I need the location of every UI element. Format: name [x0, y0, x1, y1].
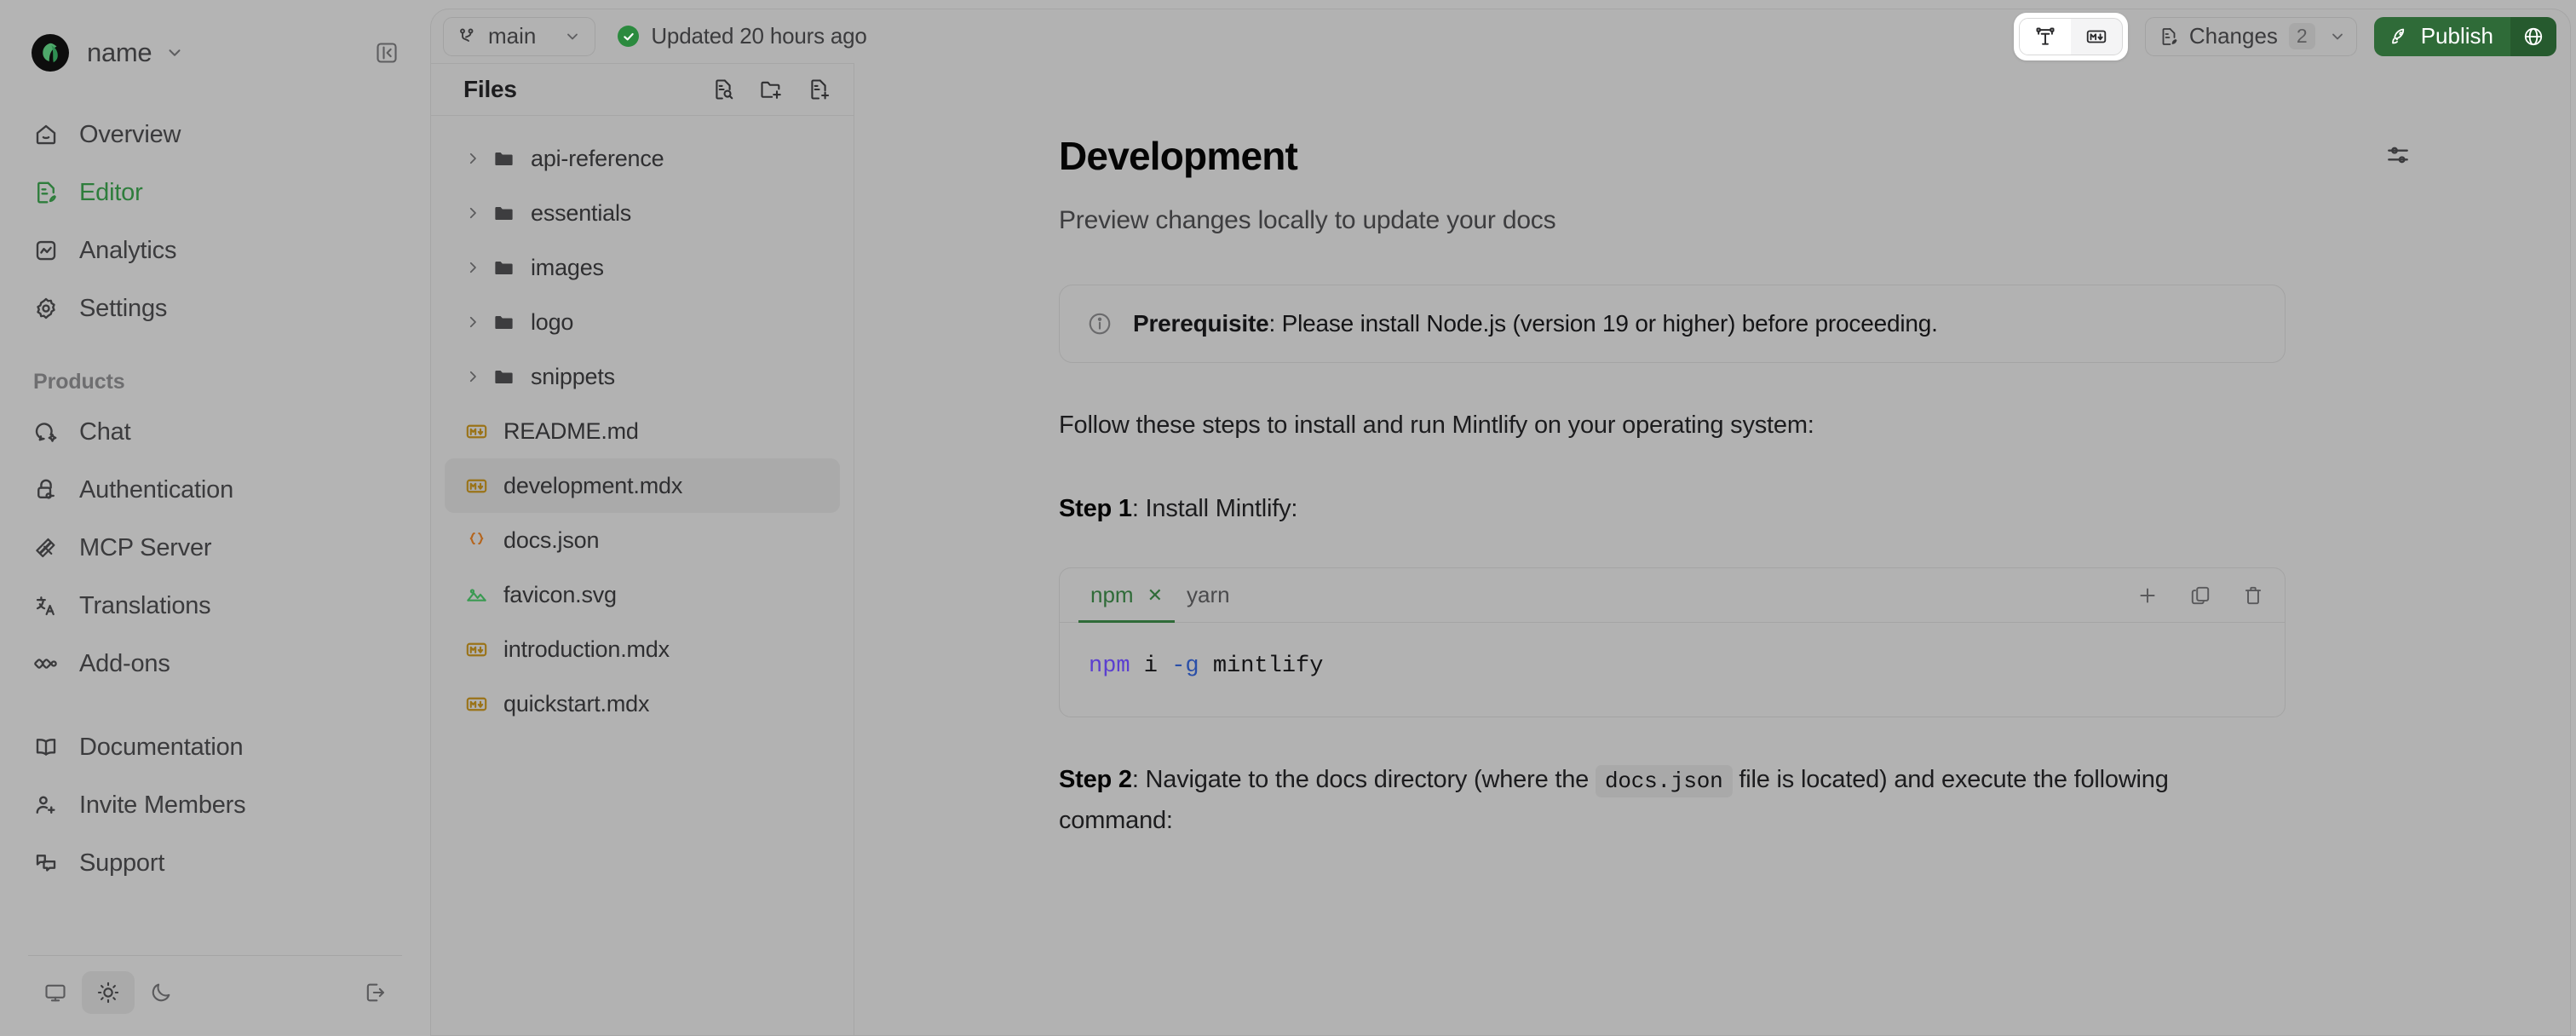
file-name: essentials — [531, 200, 631, 227]
chevron-right-icon[interactable] — [463, 314, 482, 330]
sun-icon[interactable] — [82, 971, 135, 1014]
chevron-down-icon — [564, 28, 581, 45]
file-plus-icon[interactable] — [806, 77, 831, 102]
globe-icon[interactable] — [2510, 17, 2556, 56]
sidebar-item-settings[interactable]: Settings — [26, 279, 405, 337]
file-tree-folder[interactable]: images — [445, 240, 840, 295]
file-tree-folder[interactable]: snippets — [445, 349, 840, 404]
visual-editor-icon[interactable] — [2020, 19, 2071, 55]
code-token-flag: -g — [1171, 653, 1199, 679]
file-name: api-reference — [531, 146, 664, 172]
sidebar-item-label: Editor — [79, 179, 143, 207]
step1-bold: Step 1 — [1059, 495, 1132, 522]
org-switcher[interactable]: name — [26, 0, 405, 106]
divider — [28, 955, 402, 956]
sidebar-footer — [26, 943, 405, 1036]
file-name: development.mdx — [503, 473, 682, 499]
file-tree-folder[interactable]: logo — [445, 295, 840, 349]
prerequisite-callout: Prerequisite: Please install Node.js (ve… — [1059, 285, 2286, 363]
sidebar-item-label: Support — [79, 849, 164, 878]
step1-rest: : Install Mintlify: — [1132, 495, 1297, 522]
file-name: favicon.svg — [503, 582, 617, 608]
body-split: Files — [431, 63, 2570, 1036]
logout-icon[interactable] — [348, 971, 401, 1014]
sidebar-item-label: Documentation — [79, 734, 243, 762]
chevron-down-icon[interactable] — [165, 43, 184, 62]
file-tree-folder[interactable]: essentials — [445, 186, 840, 240]
sidebar-item-authentication[interactable]: Authentication — [26, 461, 405, 519]
sidebar-item-documentation[interactable]: Documentation — [26, 718, 405, 776]
step1-paragraph[interactable]: Step 1: Install Mintlify: — [1059, 489, 2286, 530]
sidebar-section-products: Products — [26, 370, 405, 394]
chevron-right-icon[interactable] — [463, 151, 482, 166]
changes-button[interactable]: Changes 2 — [2145, 17, 2357, 56]
gear-icon — [32, 294, 60, 323]
file-diff-icon — [2159, 26, 2179, 47]
document-editor: Development Preview changes locally to u… — [854, 63, 2570, 1036]
moon-icon[interactable] — [135, 971, 187, 1014]
markdown-file-icon — [463, 693, 489, 716]
file-tree: api-reference essentials — [431, 116, 854, 731]
sidebar-item-overview[interactable]: Overview — [26, 106, 405, 164]
chat-sparkle-icon — [32, 417, 60, 446]
chevron-right-icon[interactable] — [463, 369, 482, 384]
add-ons-diamond-icon — [32, 649, 60, 678]
branch-name: main — [488, 23, 536, 49]
sidebar-item-label: MCP Server — [79, 534, 211, 562]
sidebar-item-label: Analytics — [79, 237, 176, 265]
file-search-icon[interactable] — [710, 77, 736, 102]
markdown-icon[interactable] — [2071, 19, 2122, 55]
copy-icon[interactable] — [2188, 583, 2213, 608]
sync-status: Updated 20 hours ago — [618, 23, 866, 49]
folder-plus-icon[interactable] — [758, 77, 784, 102]
code-block-tabs: npm ✕ yarn — [1060, 568, 2285, 623]
file-tree-file[interactable]: README.md — [445, 404, 840, 458]
file-tree-file[interactable]: favicon.svg — [445, 567, 840, 622]
sidebar: name Overview Editor Analytics — [0, 0, 430, 1036]
file-name: images — [531, 255, 604, 281]
monitor-icon[interactable] — [29, 971, 82, 1014]
file-edit-icon — [32, 178, 60, 207]
sidebar-item-label: Authentication — [79, 476, 233, 504]
sidebar-item-chat[interactable]: Chat — [26, 403, 405, 461]
mcp-server-icon — [32, 533, 60, 562]
publish-button[interactable]: Publish — [2374, 17, 2510, 56]
code-tab-label: yarn — [1187, 582, 1230, 608]
sidebar-item-invite-members[interactable]: Invite Members — [26, 776, 405, 834]
step2-bold: Step 2 — [1059, 766, 1132, 793]
trash-icon[interactable] — [2240, 583, 2266, 608]
step2-paragraph[interactable]: Step 2: Navigate to the docs directory (… — [1059, 760, 2286, 842]
intro-paragraph[interactable]: Follow these steps to install and run Mi… — [1059, 406, 2286, 446]
branch-selector[interactable]: main — [443, 17, 595, 56]
sidebar-main-nav: Overview Editor Analytics Settings — [26, 106, 405, 337]
sidebar-item-label: Translations — [79, 592, 210, 620]
sidebar-item-label: Add-ons — [79, 650, 170, 678]
sidebar-item-label: Settings — [79, 295, 167, 323]
file-name: snippets — [531, 364, 615, 390]
main-panel: main Updated 20 hours ago — [430, 9, 2571, 1036]
code-tab-npm[interactable]: npm ✕ — [1078, 569, 1175, 622]
folder-icon — [491, 256, 516, 279]
chevron-right-icon[interactable] — [463, 260, 482, 275]
markdown-file-icon — [463, 638, 489, 661]
code-token-plain: mintlify — [1199, 653, 1324, 679]
file-name: README.md — [503, 418, 639, 445]
sidebar-item-support[interactable]: Support — [26, 834, 405, 892]
code-token-keyword: npm — [1089, 653, 1130, 679]
folder-icon — [491, 311, 516, 334]
info-icon — [1085, 311, 1114, 337]
callout-bold: Prerequisite — [1133, 310, 1268, 337]
folder-icon — [491, 147, 516, 170]
changes-label: Changes — [2189, 23, 2278, 49]
json-file-icon — [463, 529, 489, 552]
git-branch-icon — [457, 26, 477, 47]
topbar-right-controls: Changes 2 Publish — [2014, 13, 2556, 60]
translate-icon — [32, 591, 60, 620]
image-file-icon — [463, 584, 489, 607]
plus-icon[interactable] — [2135, 583, 2160, 608]
code-token-plain: i — [1130, 653, 1172, 679]
sidebar-footer-nav: Documentation Invite Members Support — [26, 718, 405, 892]
changes-count-badge: 2 — [2289, 23, 2315, 49]
file-name: introduction.mdx — [503, 636, 670, 663]
org-name: name — [87, 37, 152, 68]
page-subtitle[interactable]: Preview changes locally to update your d… — [1059, 206, 2286, 235]
book-icon — [32, 733, 60, 762]
sidebar-item-label: Chat — [79, 418, 130, 446]
document-content: Development Preview changes locally to u… — [1059, 136, 2286, 841]
file-name: docs.json — [503, 527, 599, 554]
editor-mode-toggle — [2019, 18, 2123, 55]
sidebar-item-label: Invite Members — [79, 791, 245, 820]
callout-text: Prerequisite: Please install Node.js (ve… — [1133, 310, 1938, 337]
sync-status-text: Updated 20 hours ago — [651, 23, 866, 49]
inline-code-docs-json: docs.json — [1596, 765, 1733, 797]
sidebar-item-analytics[interactable]: Analytics — [26, 222, 405, 279]
code-block: npm ✕ yarn — [1059, 567, 2286, 717]
theme-switcher — [26, 964, 405, 1021]
code-tab-label: npm — [1090, 582, 1134, 608]
files-panel-actions — [710, 77, 831, 102]
file-tree-file[interactable]: introduction.mdx — [445, 622, 840, 676]
sidebar-products-nav: Chat Authentication MCP Server Translati… — [26, 403, 405, 693]
publish-button-group: Publish — [2374, 17, 2556, 56]
code-content[interactable]: npm i -g mintlify — [1060, 623, 2285, 717]
home-icon — [32, 120, 60, 149]
file-tree-file[interactable]: docs.json — [445, 513, 840, 567]
close-icon[interactable]: ✕ — [1147, 584, 1163, 607]
sidebar-item-translations[interactable]: Translations — [26, 577, 405, 635]
nav-gap — [26, 693, 405, 718]
code-block-actions — [2135, 583, 2266, 622]
files-panel: Files — [431, 63, 854, 1036]
code-tab-yarn[interactable]: yarn — [1175, 569, 1242, 622]
folder-icon — [491, 365, 516, 388]
file-tree-file-selected[interactable]: development.mdx — [445, 458, 840, 513]
sidebar-item-editor[interactable]: Editor — [26, 164, 405, 222]
rocket-icon — [2389, 26, 2410, 47]
sidebar-item-label: Overview — [79, 121, 181, 149]
files-panel-title: Files — [463, 76, 517, 103]
step2-part1: : Navigate to the docs directory (where … — [1132, 766, 1596, 793]
files-panel-header: Files — [431, 63, 854, 116]
document-scroll: Development Preview changes locally to u… — [854, 63, 2570, 841]
folder-icon — [491, 202, 516, 225]
page-title[interactable]: Development — [1059, 136, 2286, 176]
chevron-down-icon — [2329, 28, 2346, 45]
chevron-right-icon[interactable] — [463, 205, 482, 221]
publish-label: Publish — [2421, 23, 2493, 49]
file-name: quickstart.mdx — [503, 691, 649, 717]
check-circle-icon — [618, 26, 639, 47]
callout-rest: : Please install Node.js (version 19 or … — [1268, 310, 1937, 337]
sliders-icon[interactable] — [2383, 140, 2413, 170]
support-chat-icon — [32, 849, 60, 878]
user-plus-icon — [32, 791, 60, 820]
file-tree-folder[interactable]: api-reference — [445, 131, 840, 186]
sidebar-item-mcp-server[interactable]: MCP Server — [26, 519, 405, 577]
sidebar-item-add-ons[interactable]: Add-ons — [26, 635, 405, 693]
markdown-file-icon — [463, 420, 489, 443]
editor-mode-toggle-group — [2014, 13, 2128, 60]
lock-key-icon — [32, 475, 60, 504]
file-tree-file[interactable]: quickstart.mdx — [445, 676, 840, 731]
mintlify-leaf-logo — [32, 34, 69, 72]
markdown-file-icon — [463, 475, 489, 498]
panel-collapse-icon[interactable] — [372, 38, 401, 67]
top-toolbar: main Updated 20 hours ago — [431, 9, 2570, 63]
file-name: logo — [531, 309, 573, 336]
analytics-chart-icon — [32, 236, 60, 265]
